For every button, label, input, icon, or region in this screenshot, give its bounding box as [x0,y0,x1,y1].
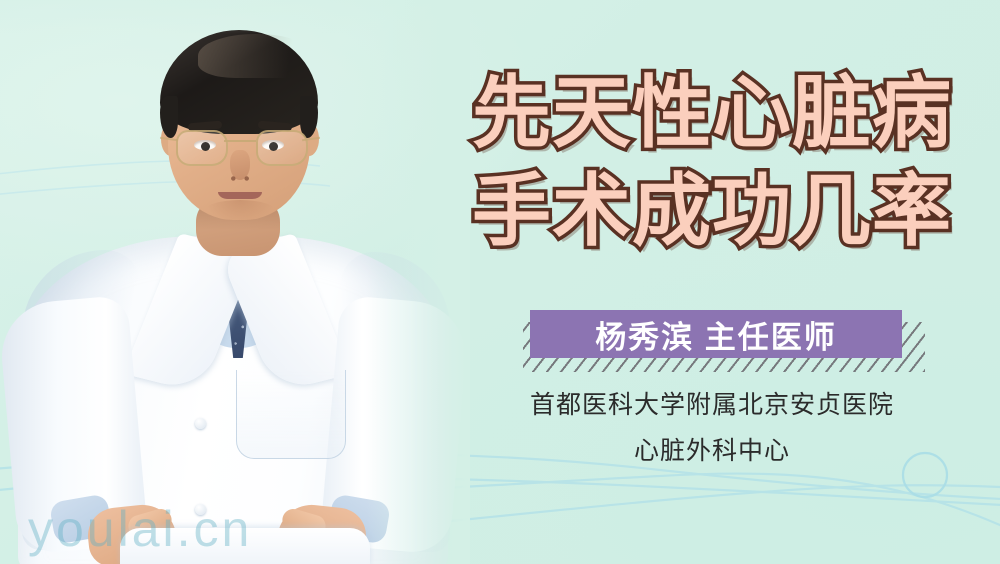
title-line-1: 先天性心脏病 [452,64,972,162]
eyeglass-lens-left [176,130,228,166]
department-name: 心脏外科中心 [452,428,972,474]
poster-canvas: 先天性心脏病 手术成功几率 杨秀滨 主任医师 首都医科大学附属北京安贞医院 心脏… [0,0,1000,564]
eyeglass-bridge [224,140,256,142]
hospital-name: 首都医科大学附属北京安贞医院 [452,382,972,428]
hair-highlight [198,34,314,78]
mouth [218,192,262,199]
coat-hem [120,528,370,564]
nostrils [228,176,252,181]
coat-button-upper [195,418,206,429]
affiliation-block: 首都医科大学附属北京安贞医院 心脏外科中心 [452,382,972,474]
coat-chest-pocket [236,370,346,459]
title-line-2: 手术成功几率 [452,162,972,260]
chin-shadow [204,200,276,222]
doctor-name-banner: 杨秀滨 主任医师 [530,310,902,358]
page-title: 先天性心脏病 手术成功几率 [452,64,972,260]
coat-button-lower [195,504,206,515]
doctor-name-label: 杨秀滨 主任医师 [595,312,837,357]
eyeglass-lens-right [256,130,308,166]
doctor-portrait-photo [0,0,470,564]
